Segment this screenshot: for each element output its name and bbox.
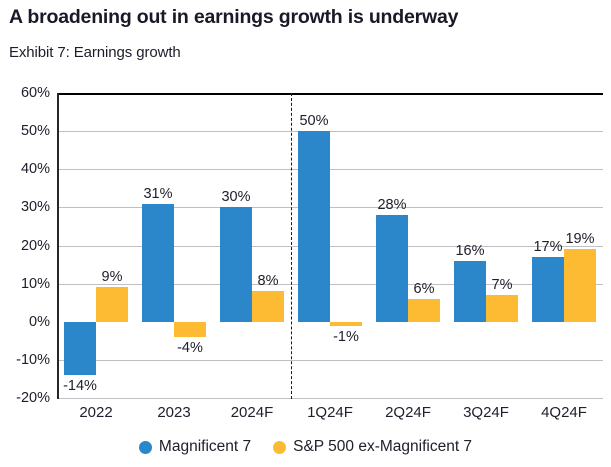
group-divider-dashed-line xyxy=(291,93,292,399)
bar-value-label: 19% xyxy=(551,232,609,247)
y-axis-tick-label: 0% xyxy=(0,314,50,330)
bar-value-label: -14% xyxy=(51,379,109,394)
bar-value-label: 7% xyxy=(473,278,531,293)
chart-legend: Magnificent 7S&P 500 ex-Magnificent 7 xyxy=(0,438,611,456)
x-axis-category-label: 3Q24F xyxy=(447,404,525,421)
chart-title: A broadening out in earnings growth is u… xyxy=(9,6,458,29)
y-axis-tick-label: 20% xyxy=(0,238,50,254)
bar-value-label: 9% xyxy=(83,270,141,285)
gridline xyxy=(57,398,603,399)
bar xyxy=(174,322,206,337)
y-axis-tick-label: -10% xyxy=(0,352,50,368)
gridline xyxy=(57,360,603,361)
gridline xyxy=(57,131,603,132)
bar-value-label: 16% xyxy=(441,244,499,259)
bar xyxy=(64,322,96,375)
bar xyxy=(220,207,252,321)
gridline xyxy=(57,169,603,170)
y-axis-tick-label: 30% xyxy=(0,199,50,215)
zero-baseline xyxy=(57,93,603,95)
bar xyxy=(376,215,408,322)
y-axis-tick-label: 50% xyxy=(0,123,50,139)
gridline xyxy=(57,207,603,208)
earnings-growth-chart: A broadening out in earnings growth is u… xyxy=(0,0,611,467)
x-axis-category-label: 2Q24F xyxy=(369,404,447,421)
bar xyxy=(252,291,284,322)
x-axis-category-label: 2024F xyxy=(213,404,291,421)
bar xyxy=(142,204,174,322)
bar xyxy=(564,249,596,321)
bar-value-label: 30% xyxy=(207,190,265,205)
y-axis-line xyxy=(57,93,59,399)
x-axis-category-label: 4Q24F xyxy=(525,404,603,421)
bar xyxy=(298,131,330,322)
legend-item[interactable]: Magnificent 7 xyxy=(139,438,251,456)
bar-value-label: 50% xyxy=(285,114,343,129)
x-axis-category-label: 1Q24F xyxy=(291,404,369,421)
legend-label: Magnificent 7 xyxy=(159,438,251,456)
y-axis-tick-labels: 60%50%40%30%20%10%0%-10%-20% xyxy=(0,0,52,467)
circle-marker-icon xyxy=(139,441,152,454)
bar xyxy=(408,299,440,322)
y-axis-tick-label: -20% xyxy=(0,390,50,406)
legend-item[interactable]: S&P 500 ex-Magnificent 7 xyxy=(273,438,472,456)
bar xyxy=(96,287,128,321)
y-axis-tick-label: 60% xyxy=(0,85,50,101)
bar-value-label: -1% xyxy=(317,330,375,345)
bar-value-label: 31% xyxy=(129,187,187,202)
bar xyxy=(532,257,564,322)
circle-marker-icon xyxy=(273,441,286,454)
bar-value-label: 6% xyxy=(395,282,453,297)
x-axis-category-label: 2023 xyxy=(135,404,213,421)
bar-value-label: 8% xyxy=(239,274,297,289)
legend-label: S&P 500 ex-Magnificent 7 xyxy=(293,438,472,456)
bar xyxy=(486,295,518,322)
x-axis-category-label: 2022 xyxy=(57,404,135,421)
bar xyxy=(330,322,362,326)
bar-value-label: 28% xyxy=(363,198,421,213)
y-axis-tick-label: 40% xyxy=(0,161,50,177)
bar-value-label: -4% xyxy=(161,341,219,356)
y-axis-tick-label: 10% xyxy=(0,276,50,292)
